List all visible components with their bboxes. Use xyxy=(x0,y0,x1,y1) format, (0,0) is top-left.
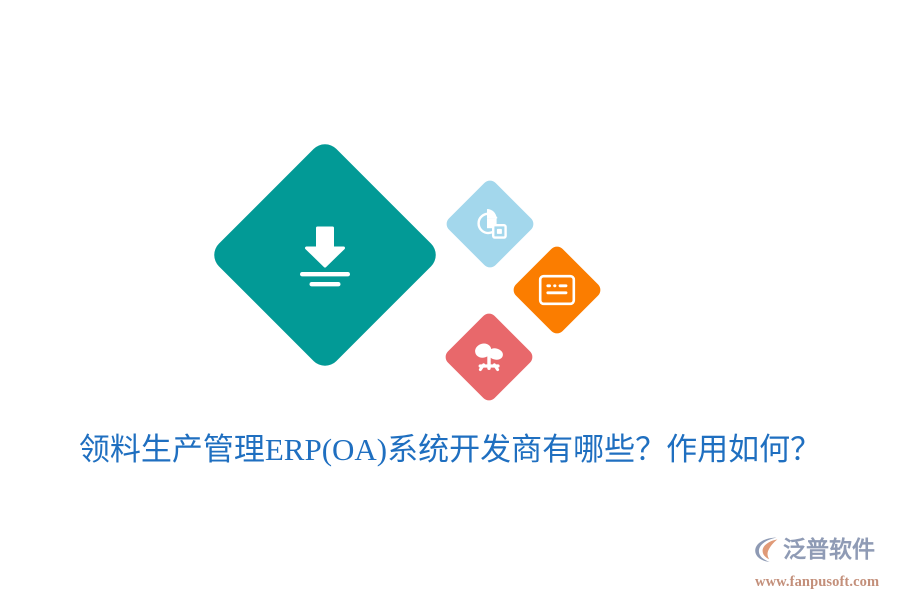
brand-lockup: 泛普软件 xyxy=(754,536,875,563)
diamond-icon-cluster xyxy=(0,0,900,420)
diamond-tile-pie-chart xyxy=(443,177,536,270)
page-title: 领料生产管理ERP(OA)系统开发商有哪些？作用如何？ xyxy=(0,424,900,469)
download-icon xyxy=(286,216,364,294)
diamond-tile-sprout xyxy=(442,310,535,403)
fanpu-logo-mark-icon xyxy=(754,536,780,563)
form-card-icon xyxy=(538,274,576,306)
sprout-icon xyxy=(470,338,508,376)
diamond-tile-download xyxy=(208,138,443,373)
brand-url: www.fanpusoft.com xyxy=(755,574,879,590)
pie-chart-icon xyxy=(472,206,508,242)
poster-canvas: 领料生产管理ERP(OA)系统开发商有哪些？作用如何？ 泛普软件 www.fan… xyxy=(0,0,900,600)
brand-name: 泛普软件 xyxy=(783,536,875,563)
brand-watermark: 泛普软件 www.fanpusoft.com xyxy=(754,536,886,590)
diamond-tile-form-card xyxy=(510,243,603,336)
